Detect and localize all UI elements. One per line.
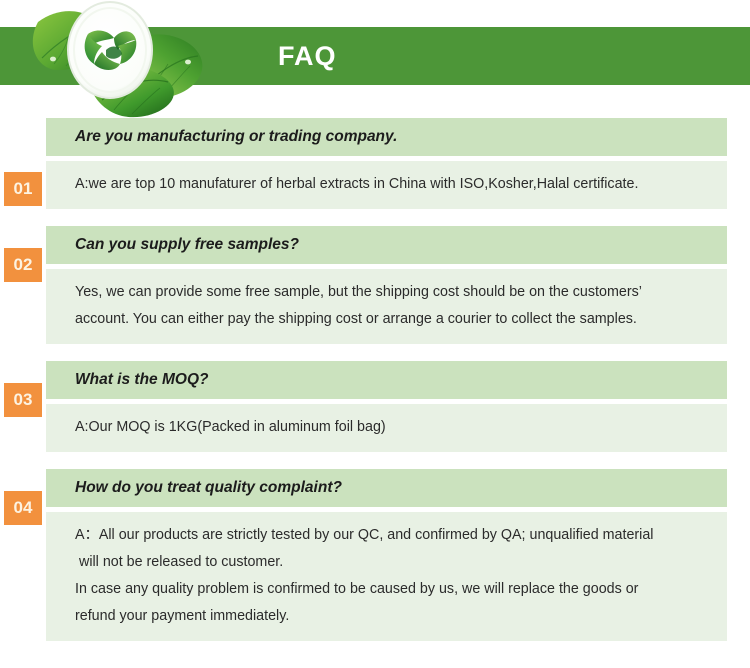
faq-item: 01 Are you manufacturing or trading comp… (0, 118, 750, 209)
faq-item: 04 How do you treat quality complaint? A… (0, 469, 750, 641)
faq-body: Are you manufacturing or trading company… (46, 118, 727, 209)
faq-answer-line: refund your payment immediately. (75, 603, 715, 630)
faq-answer: A:Our MOQ is 1KG(Packed in aluminum foil… (46, 404, 727, 452)
company-logo (22, 0, 218, 118)
faq-answer: A:we are top 10 manufaturer of herbal ex… (46, 161, 727, 209)
faq-number-badge: 04 (4, 491, 42, 525)
faq-question: Can you supply free samples? (46, 226, 727, 264)
faq-question: What is the MOQ? (46, 361, 727, 399)
faq-answer-line: Yes, we can provide some free sample, bu… (75, 279, 715, 306)
faq-list: 01 Are you manufacturing or trading comp… (0, 118, 750, 658)
page-header: FAQ (0, 0, 750, 118)
faq-answer-line: In case any quality problem is confirmed… (75, 576, 715, 603)
faq-body: Can you supply free samples? Yes, we can… (46, 226, 727, 344)
faq-answer-line: A:Our MOQ is 1KG(Packed in aluminum foil… (75, 414, 715, 441)
faq-number-badge: 03 (4, 383, 42, 417)
faq-answer-line: A:we are top 10 manufaturer of herbal ex… (75, 171, 715, 198)
faq-answer: A：All our products are strictly tested b… (46, 512, 727, 641)
faq-number-badge: 01 (4, 172, 42, 206)
faq-answer-line: will not be released to customer. (75, 549, 715, 576)
faq-item: 02 Can you supply free samples? Yes, we … (0, 226, 750, 344)
faq-body: How do you treat quality complaint? A：Al… (46, 469, 727, 641)
faq-item: 03 What is the MOQ? A:Our MOQ is 1KG(Pac… (0, 361, 750, 452)
faq-number-badge: 02 (4, 248, 42, 282)
page-title: FAQ (278, 40, 337, 72)
faq-body: What is the MOQ? A:Our MOQ is 1KG(Packed… (46, 361, 727, 452)
faq-answer-line: A：All our products are strictly tested b… (75, 522, 715, 549)
faq-question: How do you treat quality complaint? (46, 469, 727, 507)
faq-question: Are you manufacturing or trading company… (46, 118, 727, 156)
faq-answer: Yes, we can provide some free sample, bu… (46, 269, 727, 344)
faq-answer-line: account. You can either pay the shipping… (75, 306, 715, 333)
